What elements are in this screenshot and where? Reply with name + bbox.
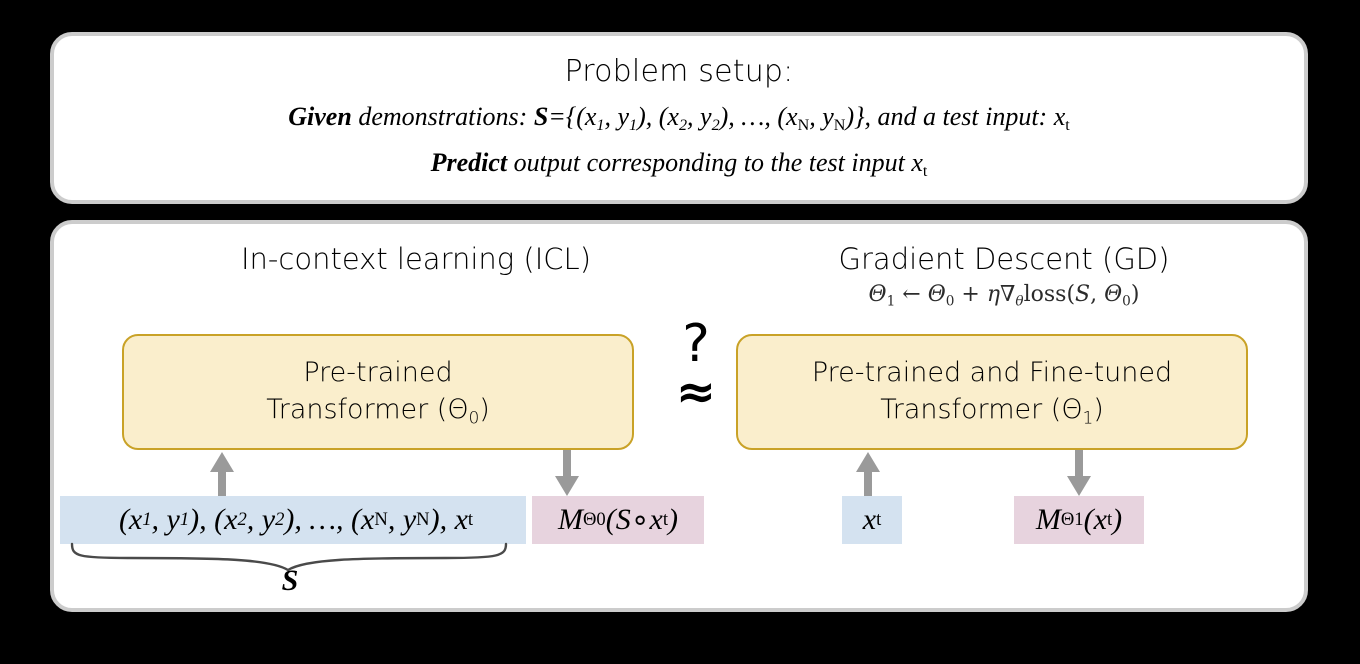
approx-equal-icon: ≈ (654, 368, 738, 416)
approximate-equivalence-marker: ? ≈ (654, 322, 738, 416)
formula-eta: η (987, 282, 1000, 307)
formula-close-paren: ) (1131, 282, 1140, 307)
given-keyword: Given (288, 102, 352, 131)
gd-model-to-output-arrow (1067, 450, 1091, 496)
set-body-c: ), (x (637, 102, 679, 131)
gd-out-x: x (1094, 503, 1107, 537)
gd-in-x: x (863, 503, 876, 537)
ctx-p7: ), x (430, 503, 468, 537)
gd-out-m: M (1036, 503, 1061, 537)
ctx-p5: ), …, (x (284, 503, 374, 537)
set-body-g: )}, and a test input: x (845, 102, 1065, 131)
gd-model-theta-sub: 1 (1083, 407, 1094, 427)
gd-column-title: Gradient Descent (GD) (754, 242, 1254, 276)
icl-vs-gd-panel: In-context learning (ICL) Gradient Desce… (50, 220, 1308, 612)
formula-arrow: ← (895, 282, 927, 307)
sub-xN: N (798, 117, 810, 134)
set-body-f: , y (809, 102, 834, 131)
icl-model-theta-sub: 0 (469, 407, 480, 427)
ctx-p4: , y (247, 503, 275, 537)
ctx-s4: 2 (275, 509, 284, 531)
sub-xt: t (1065, 117, 1069, 134)
gd-model-theta-pre: Transformer (Θ (880, 394, 1082, 425)
formula-theta0b-sub: 0 (1122, 293, 1131, 309)
set-body-b: , y (604, 102, 629, 131)
gd-output-token[interactable]: MΘ1(xt) (1014, 496, 1144, 544)
formula-comma: , (1090, 282, 1104, 307)
sub-yN: N (834, 117, 846, 134)
gd-out-m-sub: Θ1 (1061, 509, 1084, 531)
formula-nabla-sub: θ (1015, 293, 1023, 309)
ctx-p3: ), (x (189, 503, 237, 537)
icl-output-token[interactable]: MΘ0(S ∘ xt) (532, 496, 704, 544)
formula-theta0: Θ (928, 282, 946, 307)
set-body-a: ={(x (548, 102, 596, 131)
ctx-p2: , y (152, 503, 180, 537)
given-demonstrations-line: Given demonstrations: S={(x1, y1), (x2, … (54, 102, 1304, 135)
set-body-d: , y (687, 102, 712, 131)
formula-nabla: ∇ (1000, 282, 1015, 307)
icl-out-open: ( (606, 503, 616, 537)
set-body-e: ), …, (x (720, 102, 798, 131)
icl-out-circ: ∘ (631, 503, 650, 538)
ctx-p1: (x (119, 503, 142, 537)
icl-out-m-sub: Θ0 (583, 509, 606, 531)
gd-in-x-sub: t (876, 509, 881, 531)
sub-y2: 2 (712, 117, 720, 134)
icl-out-set: S (616, 503, 631, 537)
ctx-p6: , y (388, 503, 416, 537)
gd-out-close: ) (1112, 503, 1122, 537)
problem-setup-panel: Problem setup: Given demonstrations: S={… (50, 32, 1308, 204)
gd-out-open: ( (1084, 503, 1094, 537)
formula-plus: + (954, 282, 986, 307)
formula-set: S (1075, 282, 1090, 307)
formula-theta1-sub: 1 (887, 293, 896, 309)
question-mark-icon: ? (654, 322, 738, 366)
problem-setup-title: Problem setup: (54, 54, 1304, 89)
arrow-layer (54, 450, 1304, 498)
gd-input-token[interactable]: xt (842, 496, 902, 544)
icl-column-title: In-context learning (ICL) (166, 242, 666, 276)
gd-model-line-1: Pre-trained and Fine-tuned (812, 355, 1172, 391)
ctx-s2: 1 (180, 509, 189, 531)
icl-model-line-1: Pre-trained (266, 355, 490, 391)
sub-xt-predict: t (923, 163, 927, 180)
icl-model-box[interactable]: Pre-trained Transformer (Θ0) (122, 334, 634, 450)
gd-model-theta-post: ) (1093, 394, 1104, 425)
formula-loss: loss( (1024, 282, 1075, 307)
sub-x2: 2 (679, 117, 687, 134)
ctx-s5: N (374, 509, 387, 531)
icl-model-to-output-arrow (555, 450, 579, 496)
icl-out-close: ) (668, 503, 678, 537)
predict-output-line: Predict output corresponding to the test… (54, 148, 1304, 181)
ctx-s1: 1 (142, 509, 151, 531)
predict-text: output corresponding to the test input x (507, 148, 923, 177)
icl-out-x: x (650, 503, 663, 537)
sub-y1: 1 (629, 117, 637, 134)
gd-input-to-model-arrow (856, 452, 880, 498)
icl-context-to-model-arrow (210, 452, 234, 498)
figure-canvas: Problem setup: Given demonstrations: S={… (0, 0, 1360, 664)
icl-context-token[interactable]: (x1, y1), (x2, y2), …, (xN, yN), xt (60, 496, 526, 544)
icl-model-theta-pre: Transformer (Θ (266, 394, 468, 425)
icl-out-m: M (558, 503, 583, 537)
set-symbol: S (534, 102, 548, 131)
gd-model-line-2: Transformer (Θ1) (812, 392, 1172, 429)
ctx-s6: N (416, 509, 429, 531)
gd-model-box[interactable]: Pre-trained and Fine-tuned Transformer (… (736, 334, 1248, 450)
predict-keyword: Predict (431, 148, 508, 177)
given-text: demonstrations: (352, 102, 534, 131)
icl-model-theta-post: ) (479, 394, 490, 425)
ctx-s7: t (468, 509, 473, 531)
icl-model-line-2: Transformer (Θ0) (266, 392, 490, 429)
formula-theta0b: Θ (1104, 282, 1122, 307)
ctx-s3: 2 (237, 509, 246, 531)
context-set-label: S (70, 564, 510, 598)
gd-update-formula: Θ1 ← Θ0 + η∇θloss(S, Θ0) (754, 282, 1254, 309)
formula-theta1: Θ (869, 282, 887, 307)
